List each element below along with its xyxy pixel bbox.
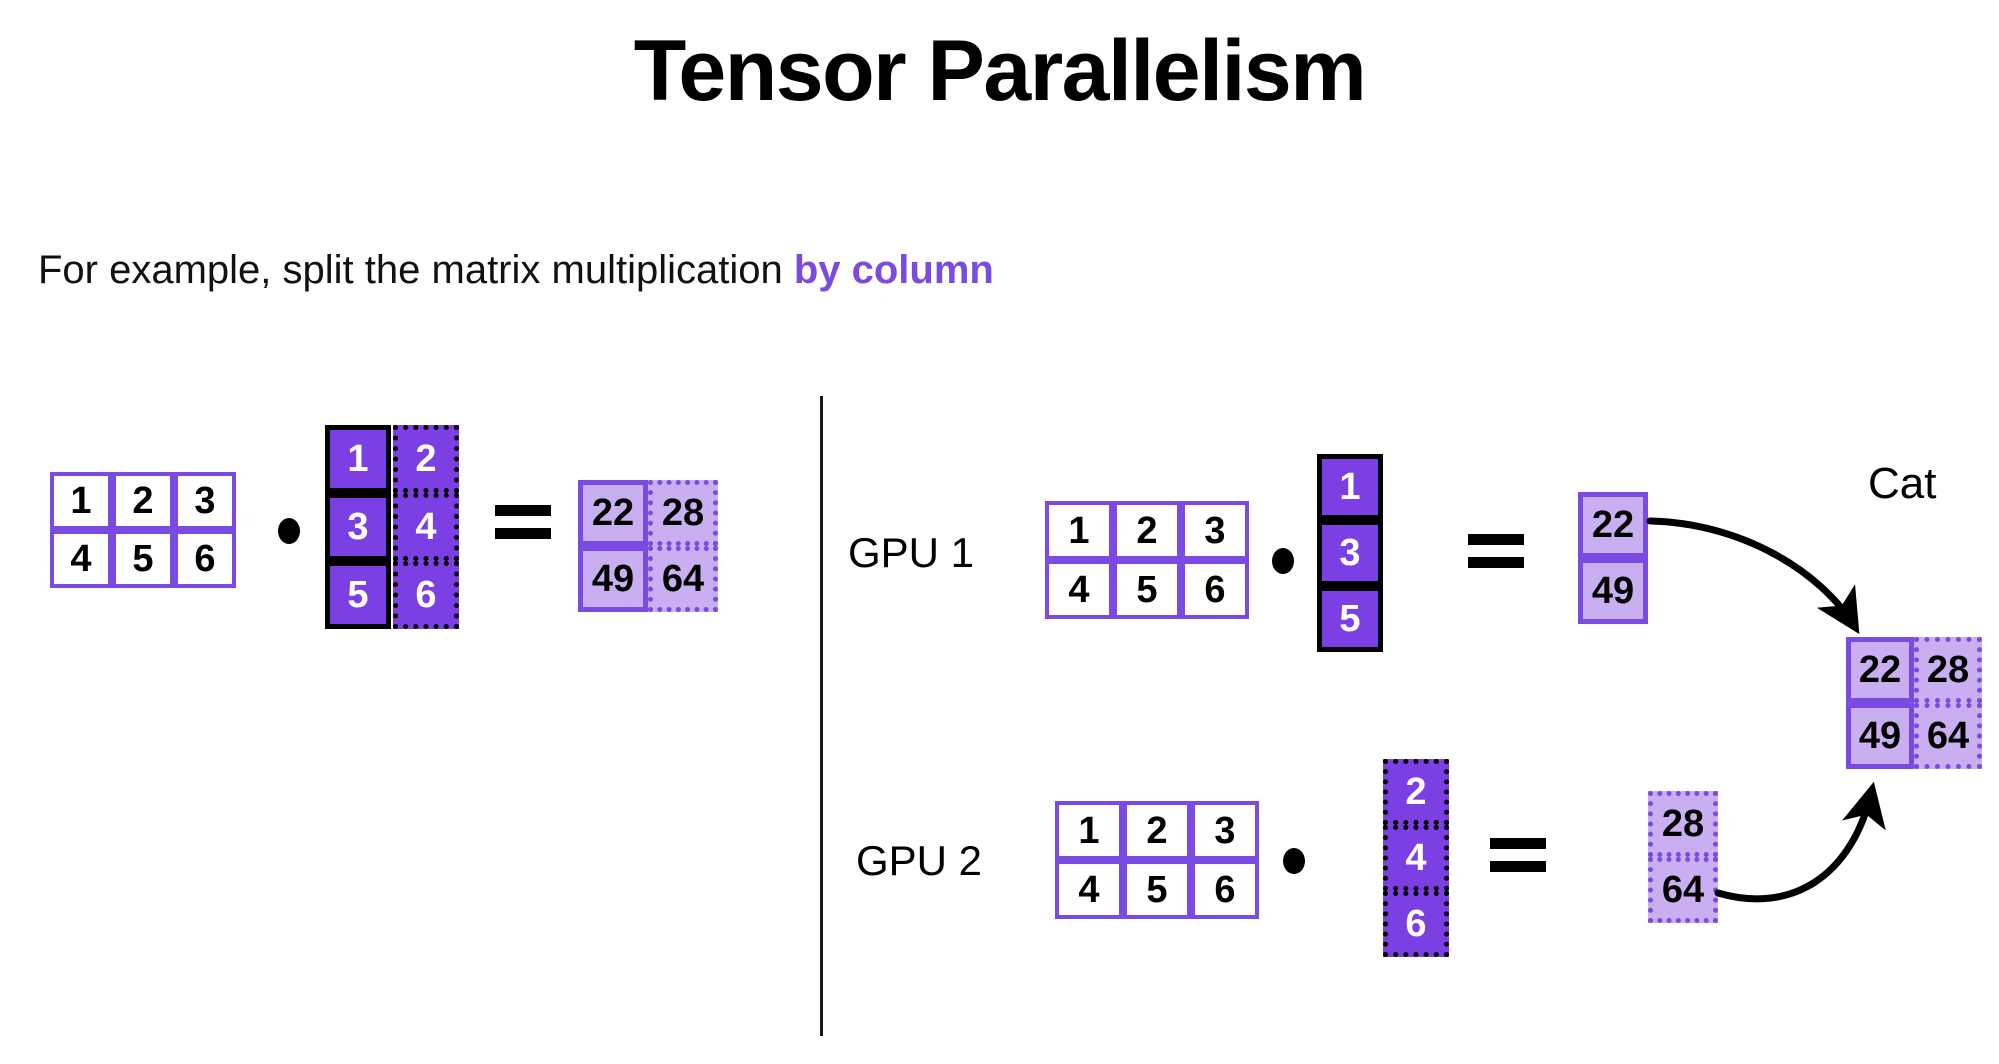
left-matrix-a-cell: 1 xyxy=(50,472,112,530)
left-matrix-b-cell: 4 xyxy=(393,493,459,561)
arrow-gpu2-to-concat xyxy=(1718,790,1872,899)
left-matrix-a-cell: 4 xyxy=(50,530,112,588)
gpu1-result-cell: 22 xyxy=(1578,492,1648,558)
left-matrix-a-cell: 3 xyxy=(174,472,236,530)
gpu2-equals-operator xyxy=(1490,838,1546,876)
gpu2-matrix-a-cell: 4 xyxy=(1055,860,1123,919)
gpu1-vector-b-cell: 3 xyxy=(1317,520,1383,586)
gpu2-matrix-a-cell: 3 xyxy=(1191,801,1259,860)
concat-label: Cat xyxy=(1868,462,1936,506)
page-subtitle: For example, split the matrix multiplica… xyxy=(38,250,994,290)
subtitle-lead: For example, split the matrix multiplica… xyxy=(38,248,794,292)
left-matrix-b-cell: 1 xyxy=(325,425,391,493)
gpu1-matrix-a-cell: 6 xyxy=(1181,560,1249,619)
gpu1-matrix-a-cell: 4 xyxy=(1045,560,1113,619)
gpu2-label: GPU 2 xyxy=(856,840,982,882)
left-matrix-b-cell: 5 xyxy=(325,561,391,629)
gpu2-matrix-a-cell: 5 xyxy=(1123,860,1191,919)
arrow-gpu1-to-concat xyxy=(1650,521,1855,627)
gpu2-matrix-a-cell: 6 xyxy=(1191,860,1259,919)
concat-result-cell: 28 xyxy=(1914,637,1982,703)
left-result-cell: 49 xyxy=(578,546,648,612)
gpu2-result-cell: 28 xyxy=(1648,791,1718,857)
gpu2-vector-b-cell: 6 xyxy=(1383,891,1449,957)
gpu1-equals-operator xyxy=(1468,534,1524,572)
gpu2-result-cell: 64 xyxy=(1648,857,1718,923)
gpu2-matrix-a-cell: 1 xyxy=(1055,801,1123,860)
concat-result-cell: 49 xyxy=(1846,703,1914,769)
gpu2-dot-operator xyxy=(1283,848,1305,874)
subtitle-accent: by column xyxy=(794,248,994,292)
panel-divider xyxy=(820,396,823,1036)
left-result-cell: 28 xyxy=(648,480,718,546)
gpu1-dot-operator xyxy=(1272,548,1294,574)
gpu1-vector-b-cell: 5 xyxy=(1317,586,1383,652)
left-matrix-a-cell: 5 xyxy=(112,530,174,588)
gpu2-vector-b-cell: 4 xyxy=(1383,825,1449,891)
left-matrix-a-cell: 6 xyxy=(174,530,236,588)
gpu1-result-cell: 49 xyxy=(1578,558,1648,624)
left-matrix-b-cell: 6 xyxy=(393,561,459,629)
gpu1-matrix-a-cell: 1 xyxy=(1045,501,1113,560)
left-result-cell: 64 xyxy=(648,546,718,612)
left-result-cell: 22 xyxy=(578,480,648,546)
page-title: Tensor Parallelism xyxy=(0,28,1999,114)
left-matrix-b-cell: 3 xyxy=(325,493,391,561)
gpu2-vector-b-cell: 2 xyxy=(1383,759,1449,825)
concat-result-cell: 22 xyxy=(1846,637,1914,703)
gpu1-matrix-a-cell: 3 xyxy=(1181,501,1249,560)
gpu1-matrix-a-cell: 2 xyxy=(1113,501,1181,560)
left-matrix-a-cell: 2 xyxy=(112,472,174,530)
gpu1-matrix-a-cell: 5 xyxy=(1113,560,1181,619)
gpu1-label: GPU 1 xyxy=(848,532,974,574)
left-dot-operator xyxy=(278,518,300,544)
left-equals-operator xyxy=(495,505,551,543)
left-matrix-b-cell: 2 xyxy=(393,425,459,493)
concat-result-cell: 64 xyxy=(1914,703,1982,769)
gpu1-vector-b-cell: 1 xyxy=(1317,454,1383,520)
gpu2-matrix-a-cell: 2 xyxy=(1123,801,1191,860)
